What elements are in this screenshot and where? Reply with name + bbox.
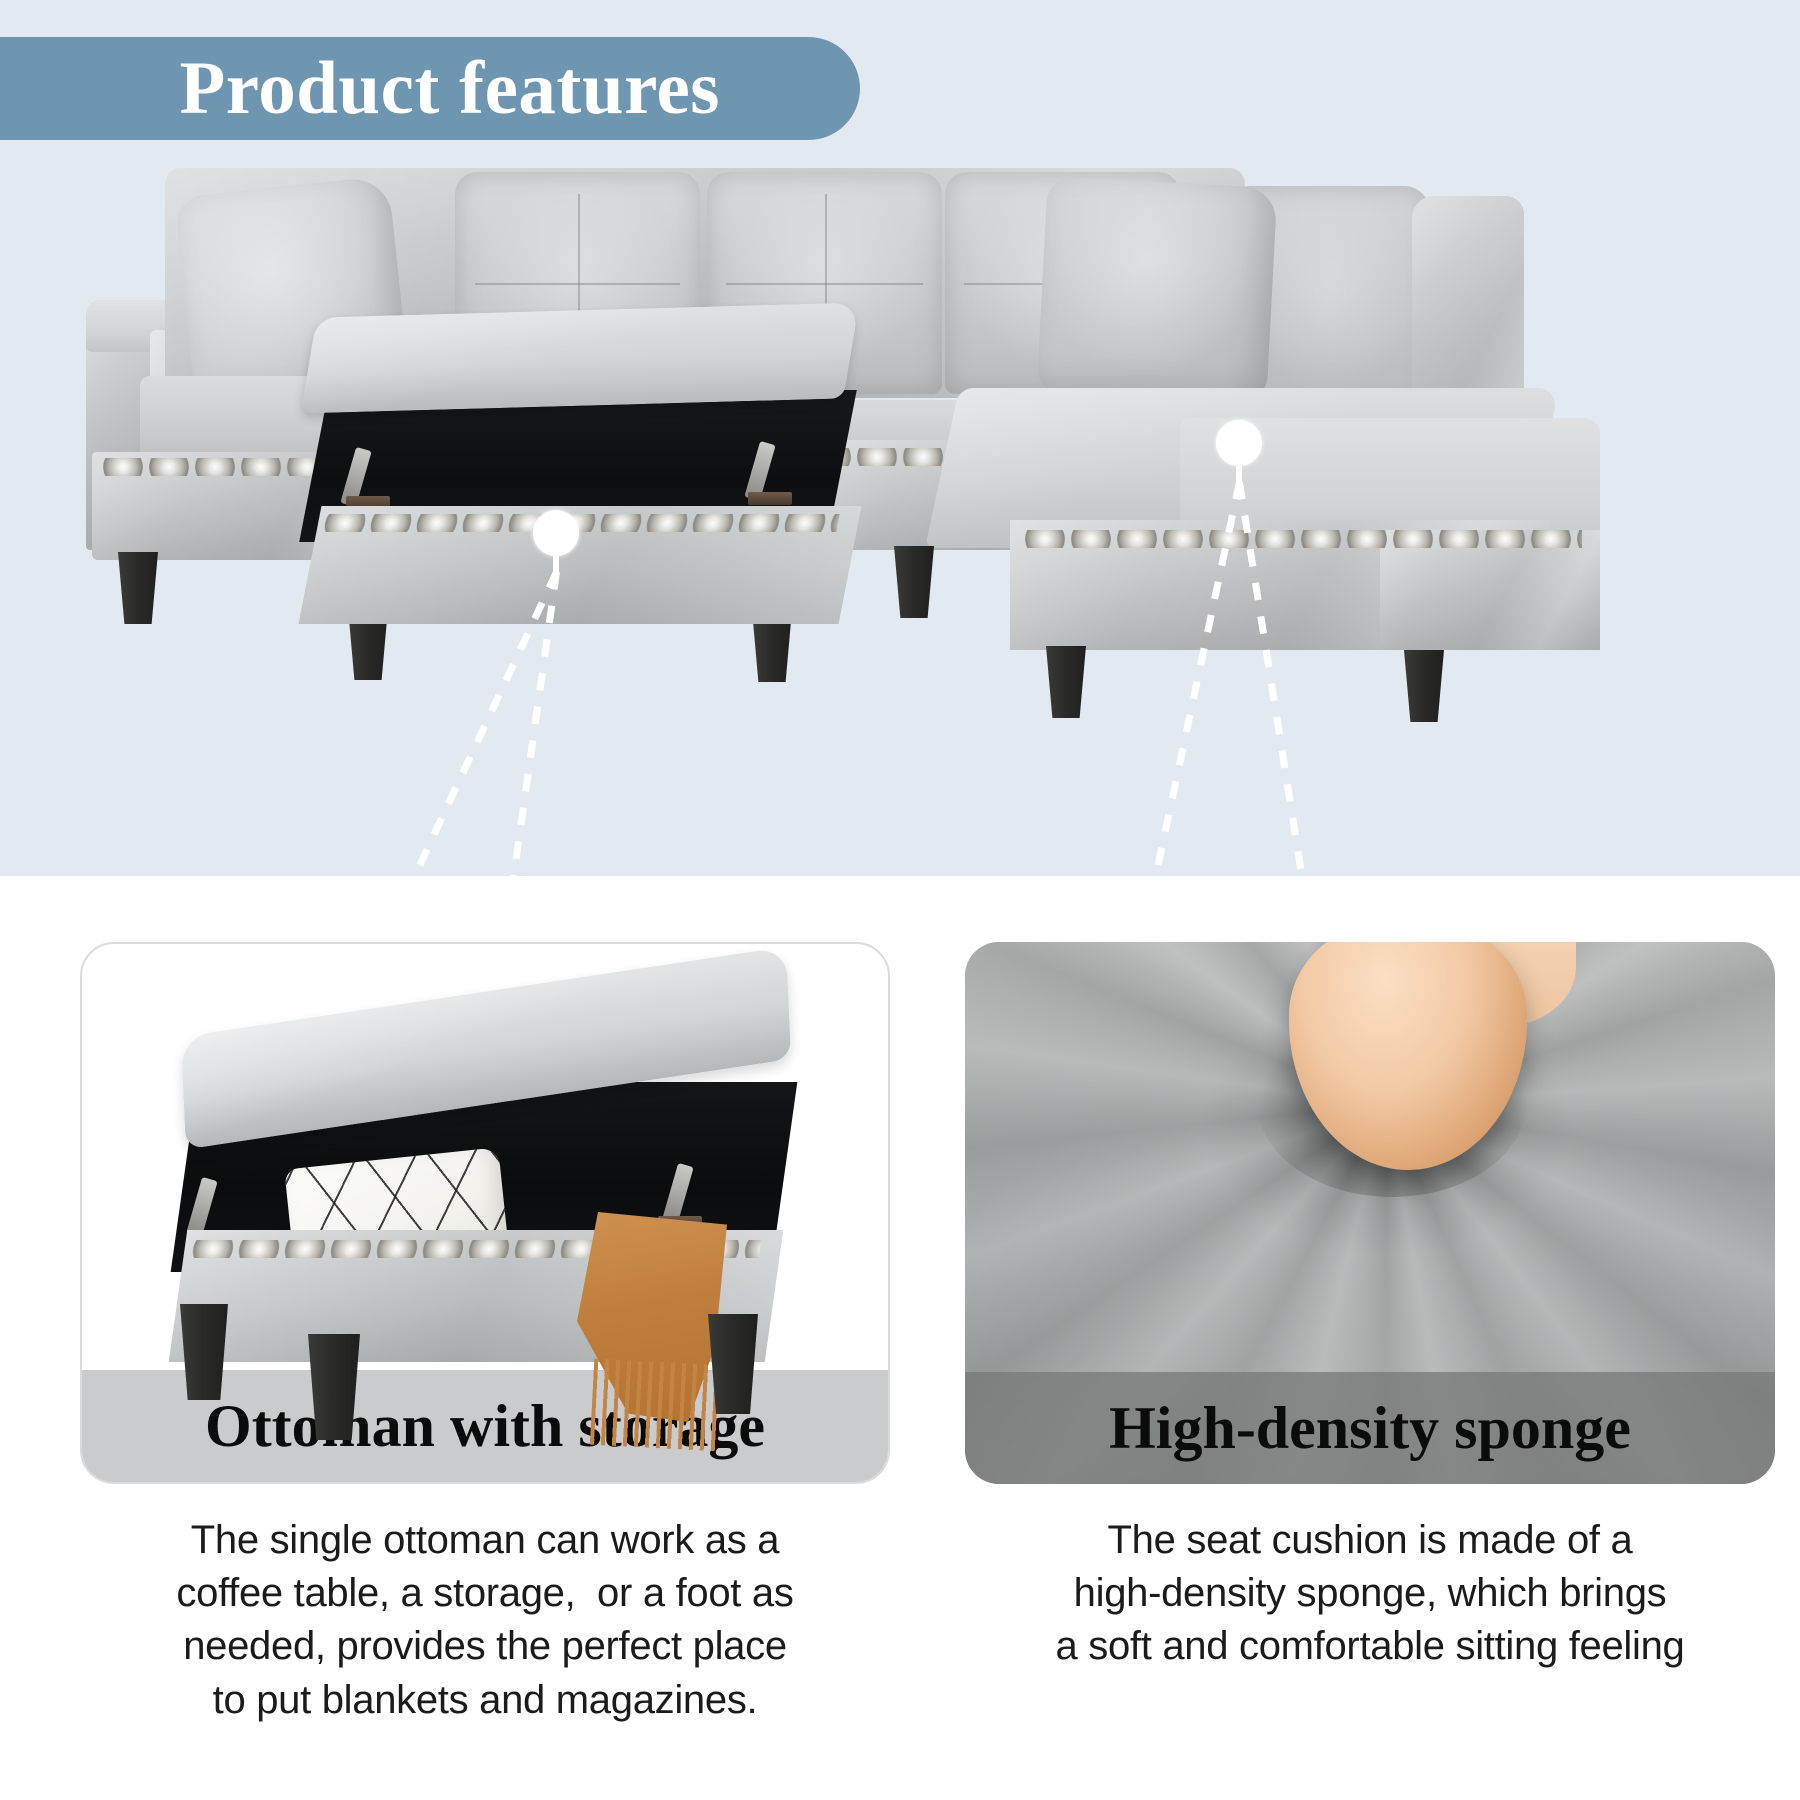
sofa-leg: [118, 552, 158, 624]
ottoman-lid: [301, 302, 860, 413]
card-description-ottoman: The single ottoman can work as a coffee …: [80, 1514, 890, 1727]
description-line: coffee table, a storage, or a foot as: [80, 1567, 890, 1620]
feature-card-ottoman-with-storage[interactable]: Ottoman with storage: [80, 942, 890, 1484]
card-caption-bar: High-density sponge: [965, 1372, 1775, 1484]
card-description-sponge: The seat cushion is made of a high-densi…: [965, 1514, 1775, 1674]
product-features-page: Product features Ot: [0, 0, 1800, 1800]
nailhead-trim: [320, 514, 839, 532]
page-title: Product features: [179, 51, 720, 126]
description-line: needed, provides the perfect place: [80, 1620, 890, 1673]
throw-blanket-fringe: [590, 1359, 724, 1452]
ottoman-leg: [180, 1304, 228, 1400]
sofa-leg: [1404, 650, 1444, 722]
sofa-leg: [1046, 646, 1086, 718]
description-line: high-density sponge, which brings: [965, 1567, 1775, 1620]
description-line: The single ottoman can work as a: [80, 1514, 890, 1567]
storage-ottoman-open: [300, 310, 860, 710]
feature-cards-section: Ottoman with storage High-density sponge…: [0, 876, 1800, 1800]
ottoman-with-storage-illustration: [122, 962, 842, 1382]
page-title-banner: Product features: [0, 37, 860, 140]
throw-pillow: [1036, 176, 1277, 406]
description-line: to put blankets and magazines.: [80, 1674, 890, 1727]
ottoman-storage-marker[interactable]: [533, 510, 579, 556]
sponge-cushion-marker[interactable]: [1216, 420, 1262, 466]
sofa-leg: [894, 546, 934, 618]
nailhead-trim: [1022, 530, 1582, 548]
description-line: The seat cushion is made of a: [965, 1514, 1775, 1567]
card-caption-title: High-density sponge: [1109, 1398, 1631, 1458]
hinge-icon: [748, 492, 792, 505]
chaise-base-right: [1380, 530, 1600, 650]
hero-section: Product features: [0, 0, 1800, 876]
description-line: a soft and comfortable sitting feeling: [965, 1620, 1775, 1673]
ottoman-leg: [308, 1334, 360, 1440]
ottoman-leg: [708, 1314, 758, 1414]
feature-card-high-density-sponge[interactable]: High-density sponge: [965, 942, 1775, 1484]
